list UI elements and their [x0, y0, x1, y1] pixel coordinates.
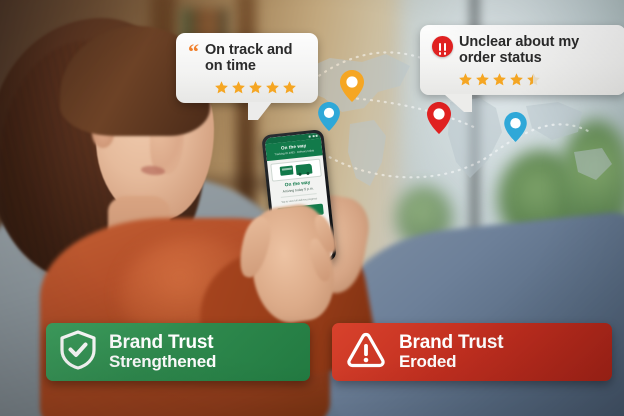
pin-origin [340, 70, 364, 102]
banner-negative[interactable]: Brand Trust Eroded [332, 323, 612, 381]
star-icon [282, 80, 297, 95]
banner-positive-line2: Strengthened [109, 353, 216, 371]
delivery-truck-icon [295, 163, 312, 175]
banner-positive-line1: Brand Trust [109, 333, 216, 353]
banner-negative-text: Brand Trust Eroded [399, 333, 503, 371]
star-icon [231, 80, 246, 95]
star-half-icon [526, 72, 541, 87]
star-icon [492, 72, 507, 87]
banner-negative-line1: Brand Trust [399, 333, 503, 353]
battery-icon [315, 134, 317, 137]
positive-review-text: On track and on time [205, 42, 292, 74]
star-icon [458, 72, 473, 87]
star-icon [214, 80, 229, 95]
negative-review-line2: order status [459, 50, 579, 66]
star-icon [475, 72, 490, 87]
star-icon [265, 80, 280, 95]
negative-review-rating [458, 72, 614, 87]
tracking-body: On the way Arriving today 5 p.m. Tap to … [269, 179, 327, 205]
warning-triangle-icon [346, 331, 386, 374]
banner-positive-text: Brand Trust Strengthened [109, 333, 216, 371]
positive-review-bubble: “ On track and on time [176, 33, 318, 103]
banner-negative-line2: Eroded [399, 353, 503, 371]
negative-review-bubble: Unclear about my order status [420, 25, 624, 95]
pin-waypoint-east [504, 112, 527, 142]
positive-review-row: “ On track and on time [188, 42, 306, 74]
star-icon [248, 80, 263, 95]
positive-review-line1: On track and [205, 42, 292, 58]
double-exclamation-icon [432, 36, 453, 57]
scene-canvas: On the way Tracking ID 4493 · Delivery t… [0, 0, 624, 416]
positive-review-line2: on time [205, 58, 292, 74]
quote-icon: “ [188, 43, 199, 62]
pin-waypoint-west [318, 102, 340, 131]
delivery-illustration [270, 158, 322, 181]
negative-review-row: Unclear about my order status [432, 34, 614, 66]
package-icon [280, 165, 294, 175]
shield-check-icon [60, 330, 96, 375]
negative-review-text: Unclear about my order status [459, 34, 579, 66]
banner-positive[interactable]: Brand Trust Strengthened [46, 323, 310, 381]
positive-review-rating [214, 80, 306, 95]
star-icon [509, 72, 524, 87]
signal-icon [309, 135, 311, 138]
negative-review-line1: Unclear about my [459, 34, 579, 50]
wifi-icon [312, 135, 314, 138]
